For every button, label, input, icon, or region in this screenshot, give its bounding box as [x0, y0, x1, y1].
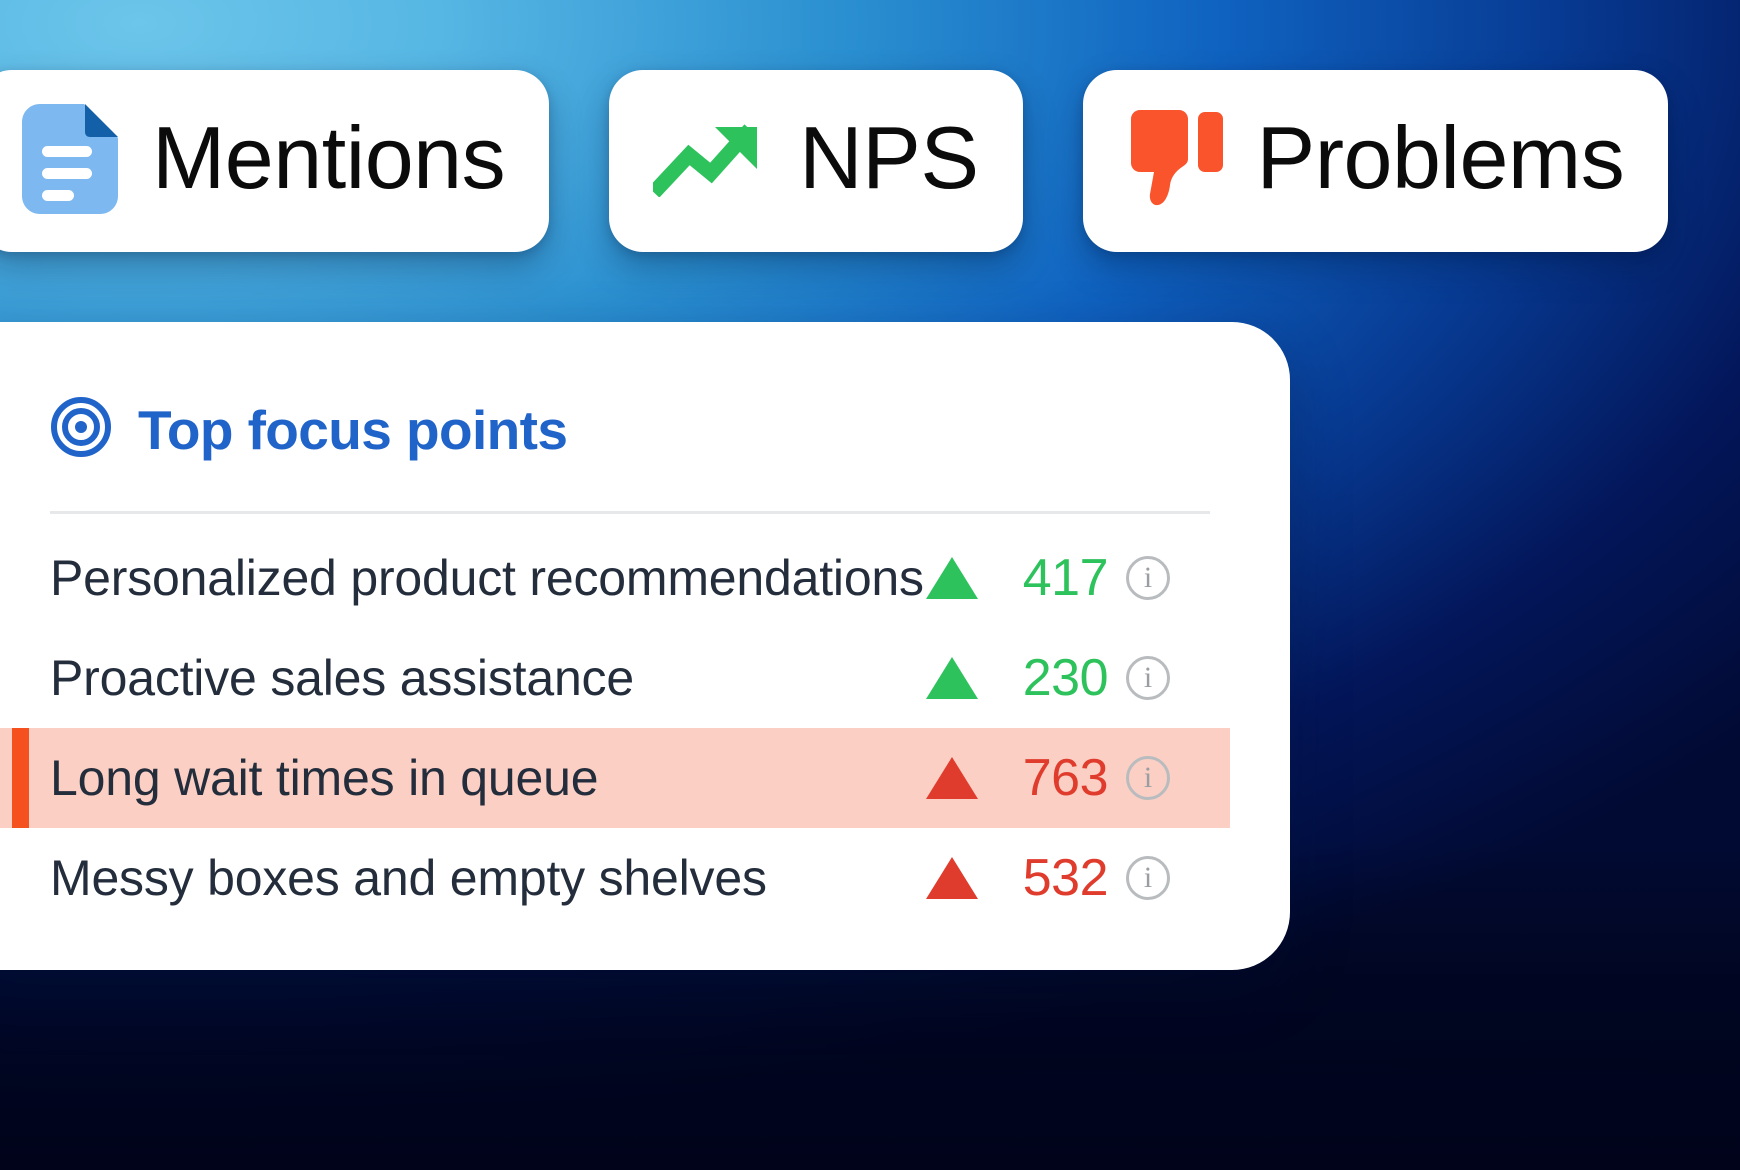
metric-chip-row: Mentions NPS Problems: [0, 70, 1668, 252]
metric-value: 763: [996, 748, 1108, 808]
divider: [50, 511, 1210, 514]
top-focus-points-card: Top focus points Personalized product re…: [0, 322, 1290, 970]
metric-value: 417: [996, 548, 1108, 608]
focus-metric: 230 i: [926, 648, 1170, 708]
focus-metric: 763 i: [926, 748, 1170, 808]
chip-label-mentions: Mentions: [152, 114, 505, 202]
info-circle-icon[interactable]: i: [1126, 656, 1170, 700]
chip-label-problems: Problems: [1257, 114, 1625, 202]
trend-up-triangle-icon: [926, 857, 978, 899]
focus-label: Long wait times in queue: [50, 749, 598, 807]
trend-up-triangle-icon: [926, 557, 978, 599]
focus-label: Proactive sales assistance: [50, 649, 634, 707]
list-item[interactable]: Messy boxes and empty shelves 532 i: [0, 828, 1230, 928]
chip-mentions[interactable]: Mentions: [0, 70, 549, 252]
list-item[interactable]: Personalized product recommendations 417…: [0, 528, 1230, 628]
info-circle-icon[interactable]: i: [1126, 856, 1170, 900]
list-item-flagged[interactable]: Long wait times in queue 763 i: [0, 728, 1230, 828]
focus-label: Messy boxes and empty shelves: [50, 849, 767, 907]
focus-points-list: Personalized product recommendations 417…: [0, 528, 1290, 928]
focus-metric: 417 i: [926, 548, 1170, 608]
chip-problems[interactable]: Problems: [1083, 70, 1669, 252]
document-icon: [22, 104, 118, 219]
thumbs-down-icon: [1127, 109, 1223, 214]
metric-value: 532: [996, 848, 1108, 908]
info-circle-icon[interactable]: i: [1126, 756, 1170, 800]
metric-value: 230: [996, 648, 1108, 708]
focus-label: Personalized product recommendations: [50, 549, 924, 607]
info-circle-icon[interactable]: i: [1126, 556, 1170, 600]
page-title: Top focus points: [138, 398, 567, 462]
card-header: Top focus points: [0, 322, 1290, 463]
focus-metric: 532 i: [926, 848, 1170, 908]
trend-up-triangle-icon: [926, 657, 978, 699]
trending-up-icon: [653, 121, 765, 202]
list-item[interactable]: Proactive sales assistance 230 i: [0, 628, 1230, 728]
app-background: Mentions NPS Problems: [0, 0, 1740, 1170]
chip-nps[interactable]: NPS: [609, 70, 1022, 252]
chip-label-nps: NPS: [799, 114, 978, 202]
trend-up-triangle-icon: [926, 757, 978, 799]
target-icon: [50, 396, 112, 463]
